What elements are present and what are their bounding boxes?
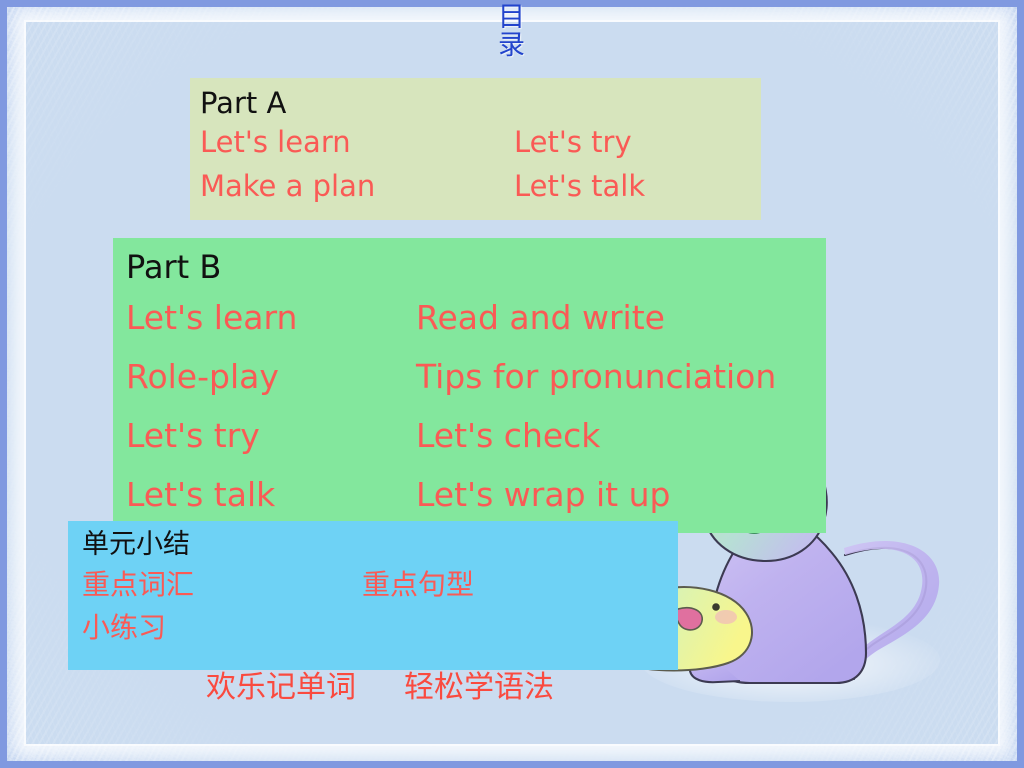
part-b-panel: Part B Let's learn Read and write Role-p… — [113, 238, 826, 533]
bottom-links-spacer — [356, 668, 404, 708]
bottom-links-row: 欢乐记单词 轻松学语法 — [206, 668, 554, 708]
part-b-row-4: Let's talk Let's wrap it up — [126, 465, 826, 524]
part-b-item-lets-wrap-it-up[interactable]: Let's wrap it up — [416, 465, 670, 524]
part-a-item-lets-try[interactable]: Let's try — [514, 120, 632, 164]
part-b-row-3: Let's try Let's check — [126, 406, 826, 465]
part-b-item-read-and-write[interactable]: Read and write — [416, 288, 665, 347]
part-a-item-lets-talk[interactable]: Let's talk — [514, 164, 645, 208]
part-b-item-lets-learn[interactable]: Let's learn — [126, 288, 416, 347]
slide-canvas: 目 录 Part A Let's learn Let's try Make a … — [0, 0, 1024, 768]
unit-summary-item-key-sentences[interactable]: 重点句型 — [362, 563, 474, 606]
unit-summary-row-2: 小练习 — [82, 606, 678, 649]
part-b-item-lets-check[interactable]: Let's check — [416, 406, 600, 465]
part-b-item-tips-for-pronunciation[interactable]: Tips for pronunciation — [416, 347, 776, 406]
part-b-row-2: Role-play Tips for pronunciation — [126, 347, 826, 406]
bottom-link-easy-grammar[interactable]: 轻松学语法 — [404, 668, 554, 708]
part-b-heading: Part B — [126, 246, 826, 288]
part-b-item-lets-talk[interactable]: Let's talk — [126, 465, 416, 524]
part-a-heading: Part A — [200, 86, 761, 120]
part-b-item-role-play[interactable]: Role-play — [126, 347, 416, 406]
part-a-item-make-a-plan[interactable]: Make a plan — [200, 164, 514, 208]
unit-summary-item-practice[interactable]: 小练习 — [82, 606, 362, 649]
unit-summary-row-1: 重点词汇 重点句型 — [82, 563, 678, 606]
part-b-item-lets-try[interactable]: Let's try — [126, 406, 416, 465]
part-a-row-2: Make a plan Let's talk — [200, 164, 761, 208]
part-a-row-1: Let's learn Let's try — [200, 120, 761, 164]
part-b-row-1: Let's learn Read and write — [126, 288, 826, 347]
unit-summary-item-key-vocabulary[interactable]: 重点词汇 — [82, 563, 362, 606]
part-a-panel: Part A Let's learn Let's try Make a plan… — [190, 78, 761, 220]
bottom-link-fun-vocabulary[interactable]: 欢乐记单词 — [206, 668, 356, 708]
unit-summary-panel: 单元小结 重点词汇 重点句型 小练习 — [68, 521, 678, 670]
part-a-item-lets-learn[interactable]: Let's learn — [200, 120, 514, 164]
unit-summary-heading: 单元小结 — [82, 527, 678, 563]
